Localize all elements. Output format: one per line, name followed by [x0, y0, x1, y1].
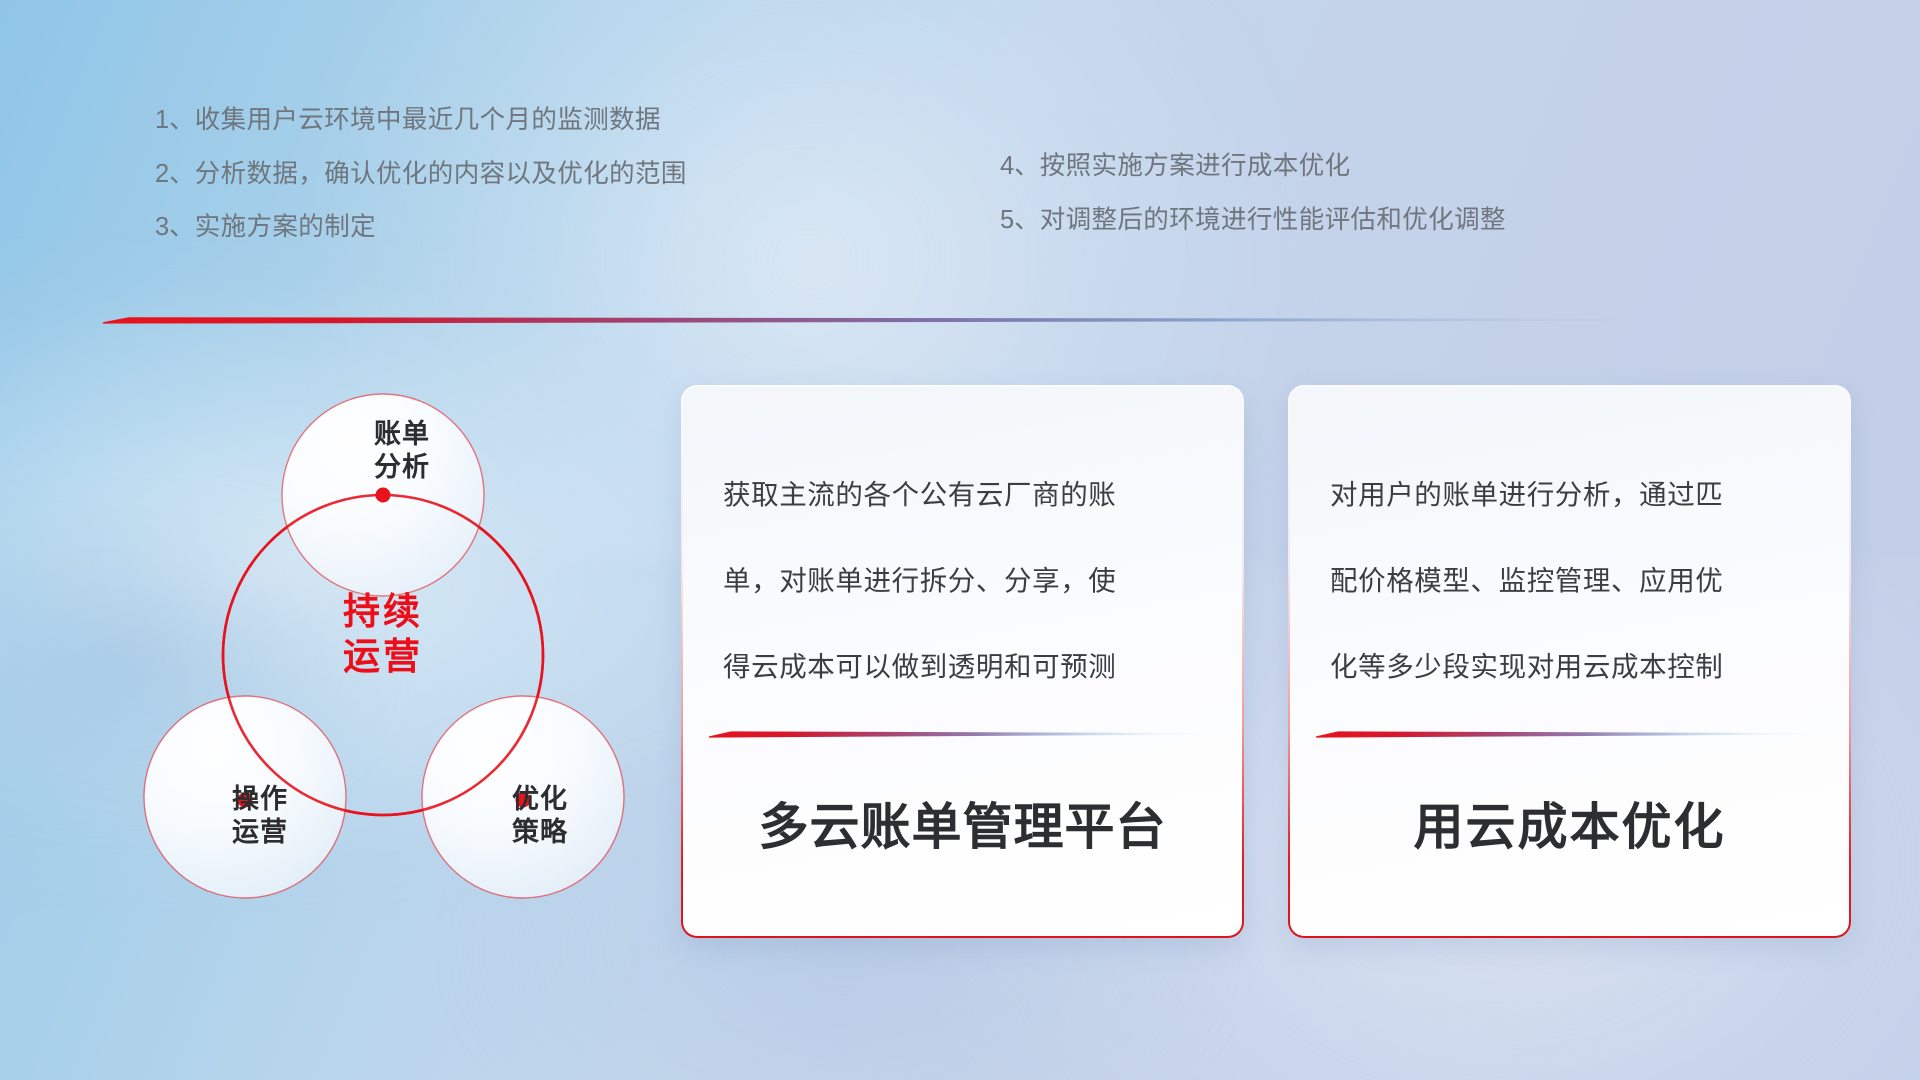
list-item: 1、收集用户云环境中最近几个月的监测数据 [155, 108, 687, 134]
slide-canvas: 1、收集用户云环境中最近几个月的监测数据 2、分析数据，确认优化的内容以及优化的… [0, 0, 1920, 1080]
card-body-line: 化等多少段实现对用云成本控制 [1330, 624, 1817, 710]
card-multi-cloud-billing-platform[interactable]: 获取主流的各个公有云厂商的账 单，对账单进行拆分、分享，使 得云成本可以做到透明… [681, 385, 1244, 938]
diagram-node-line: 优化 [470, 783, 610, 816]
diagram-node-optimization-policy: 优化 策略 [470, 783, 610, 849]
card-title: 多云账单管理平台 [683, 787, 1242, 859]
card-cloud-cost-optimization[interactable]: 对用户的账单进行分析，通过匹 配价格模型、监控管理、应用优 化等多少段实现对用云… [1288, 385, 1851, 938]
card-body-line: 配价格模型、监控管理、应用优 [1330, 538, 1817, 624]
diagram-node-billing-analysis: 账单 分析 [332, 418, 472, 484]
card-inner: 获取主流的各个公有云厂商的账 单，对账单进行拆分、分享，使 得云成本可以做到透明… [683, 387, 1242, 936]
list-item-index: 3、 [155, 213, 195, 241]
step-list-column-right: 4、按照实施方案进行成本优化 5、对调整后的环境进行性能评估和优化调整 [1000, 154, 1506, 261]
list-item-label: 对调整后的环境进行性能评估和优化调整 [1040, 206, 1506, 234]
diagram-center-line: 运营 [290, 634, 476, 679]
card-body-line: 获取主流的各个公有云厂商的账 [723, 452, 1210, 538]
card-body-line: 单，对账单进行拆分、分享，使 [723, 538, 1210, 624]
diagram-center-line: 持续 [290, 589, 476, 634]
list-item-index: 1、 [155, 106, 195, 134]
step-list-column-left: 1、收集用户云环境中最近几个月的监测数据 2、分析数据，确认优化的内容以及优化的… [155, 108, 687, 269]
card-divider [1316, 726, 1813, 736]
diagram-node-operations: 操作 运营 [190, 783, 330, 849]
list-item-label: 分析数据，确认优化的内容以及优化的范围 [195, 160, 687, 188]
diagram-center-label: 持续 运营 [290, 589, 476, 679]
list-item-index: 5、 [1000, 206, 1040, 234]
diagram-node-line: 账单 [332, 418, 472, 451]
list-item-index: 2、 [155, 160, 195, 188]
diagram-node-line: 操作 [190, 783, 330, 816]
list-item-label: 收集用户云环境中最近几个月的监测数据 [195, 106, 661, 134]
card-divider [709, 726, 1206, 736]
diagram-node-line: 策略 [470, 816, 610, 849]
step-list: 1、收集用户云环境中最近几个月的监测数据 2、分析数据，确认优化的内容以及优化的… [0, 108, 1920, 298]
list-item-label: 按照实施方案进行成本优化 [1040, 152, 1351, 180]
diagram-node-line: 运营 [190, 816, 330, 849]
card-inner: 对用户的账单进行分析，通过匹 配价格模型、监控管理、应用优 化等多少段实现对用云… [1290, 387, 1849, 936]
list-item: 4、按照实施方案进行成本优化 [1000, 154, 1506, 180]
card-body-line: 得云成本可以做到透明和可预测 [723, 624, 1210, 710]
card-body-line: 对用户的账单进行分析，通过匹 [1330, 452, 1817, 538]
list-item-label: 实施方案的制定 [195, 213, 376, 241]
list-item: 3、实施方案的制定 [155, 215, 687, 241]
connector-dot [376, 488, 391, 503]
card-body: 获取主流的各个公有云厂商的账 单，对账单进行拆分、分享，使 得云成本可以做到透明… [723, 452, 1210, 710]
card-body: 对用户的账单进行分析，通过匹 配价格模型、监控管理、应用优 化等多少段实现对用云… [1330, 452, 1817, 710]
continuous-operations-diagram: 账单 分析 操作 运营 优化 策略 持续 运营 [95, 352, 665, 952]
list-item: 2、分析数据，确认优化的内容以及优化的范围 [155, 162, 687, 188]
list-item-index: 4、 [1000, 152, 1040, 180]
list-item: 5、对调整后的环境进行性能评估和优化调整 [1000, 208, 1506, 234]
diagram-node-line: 分析 [332, 451, 472, 484]
card-title: 用云成本优化 [1290, 787, 1849, 859]
